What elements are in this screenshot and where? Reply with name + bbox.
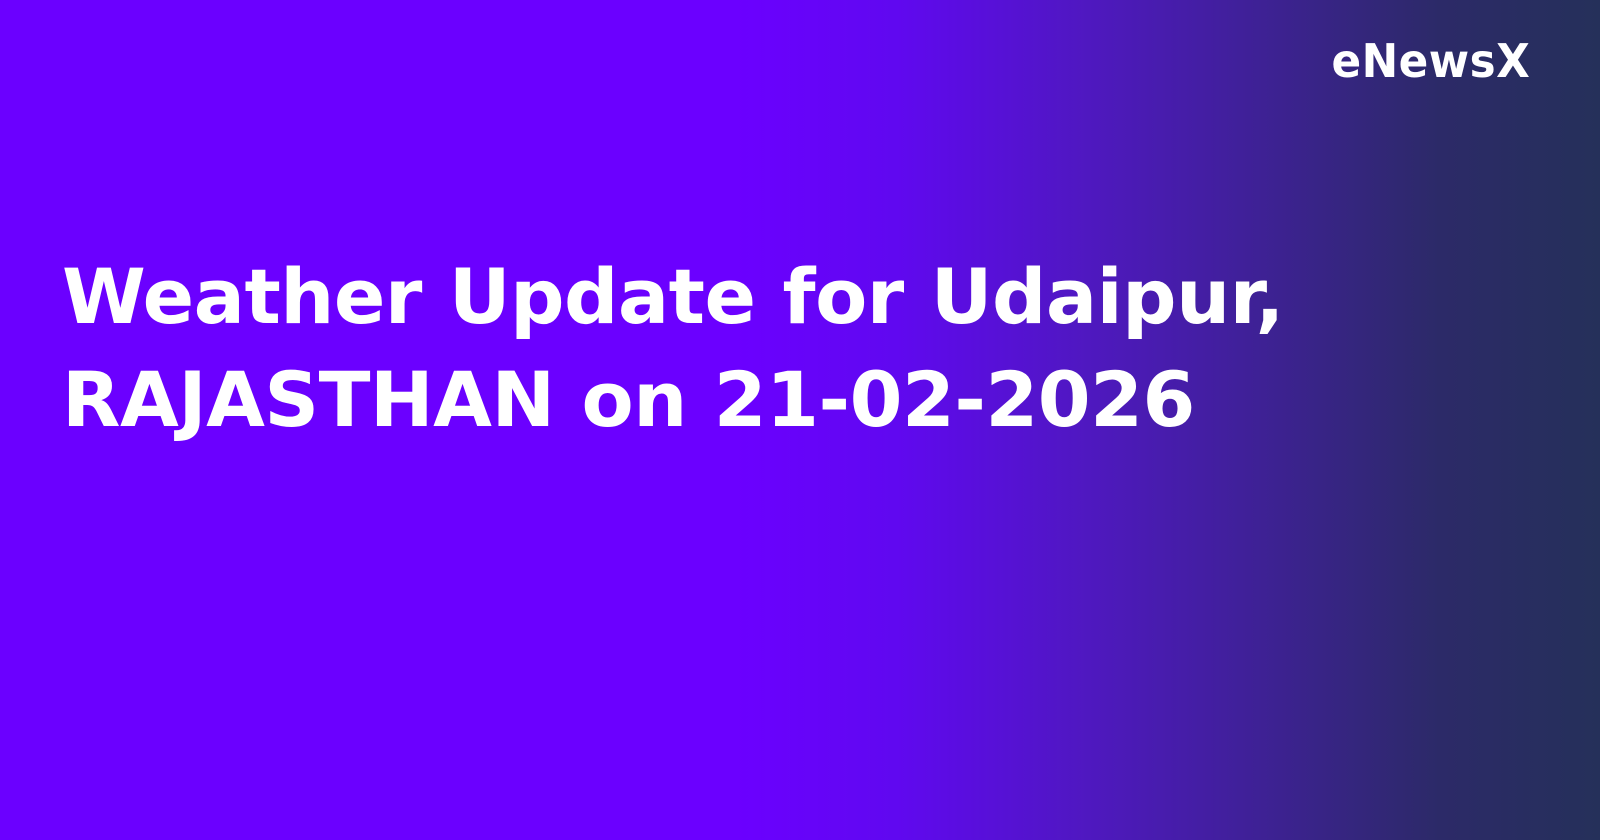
news-banner: eNewsX Weather Update for Udaipur, RAJAS…: [0, 0, 1600, 840]
headline-container: Weather Update for Udaipur, RAJASTHAN on…: [62, 245, 1482, 451]
brand-logo[interactable]: eNewsX: [1321, 28, 1530, 94]
page-title: Weather Update for Udaipur, RAJASTHAN on…: [62, 245, 1482, 451]
brand-logo-text: eNewsX: [1331, 38, 1530, 84]
